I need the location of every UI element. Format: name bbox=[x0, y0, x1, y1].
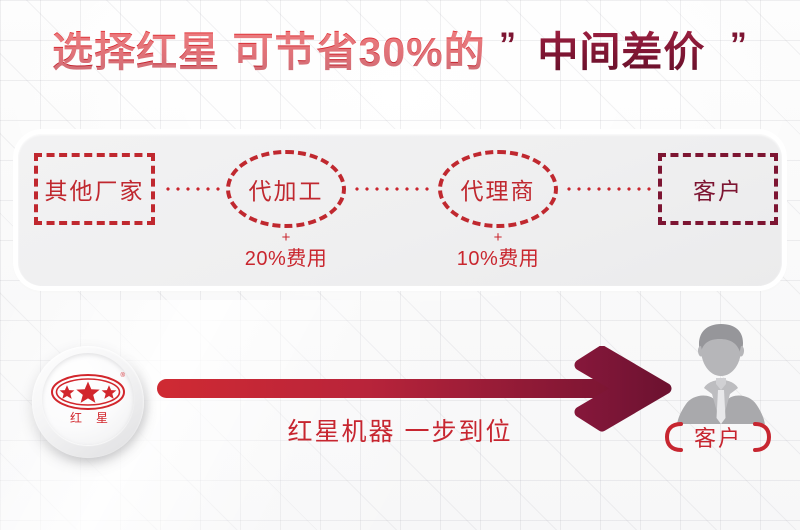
connector-agent-to-customer bbox=[564, 187, 652, 191]
svg-text:星: 星 bbox=[96, 411, 108, 425]
page-title: 选择红星 可节省30%的 ” 中间差价 ” bbox=[0, 28, 800, 77]
connector-other-to-oem bbox=[163, 187, 221, 191]
businessman-avatar-icon bbox=[668, 318, 774, 426]
flow-node-other-factory: 其他厂家 bbox=[34, 153, 155, 225]
fee-annotation-agent: + 10%费用 bbox=[418, 230, 578, 272]
flow-node-label: 其他厂家 bbox=[45, 172, 145, 206]
fee-annotation-oem: + 20%费用 bbox=[206, 230, 366, 272]
flow-node-customer: 客户 bbox=[658, 153, 778, 225]
connector-oem-to-agent bbox=[352, 187, 434, 191]
quote-open-icon: ” bbox=[499, 25, 517, 66]
poster-canvas: 选择红星 可节省30%的 ” 中间差价 ” 其他厂家 代加工 代理商 客户 + … bbox=[0, 0, 800, 530]
customer-label: 客户 bbox=[694, 421, 742, 453]
bracket-right-icon bbox=[753, 421, 772, 453]
headline-primary-text: 选择红星 可节省30%的 bbox=[52, 29, 485, 75]
headline-emphasis-text: 中间差价 bbox=[537, 29, 705, 75]
svg-text:®: ® bbox=[121, 372, 126, 379]
customer-tag: 客户 bbox=[648, 419, 788, 455]
flow-node-label: 代加工 bbox=[249, 172, 324, 206]
hongxing-logo-mark: ® 红 星 bbox=[48, 368, 128, 430]
flow-node-label: 客户 bbox=[693, 172, 743, 206]
bottom-tagline: 红星机器 一步到位 bbox=[190, 412, 610, 448]
fee-plus-sign: + bbox=[418, 230, 578, 246]
fee-amount: 20%费用 bbox=[206, 246, 366, 272]
flow-node-agent-dealer: 代理商 bbox=[438, 150, 558, 228]
fee-amount: 10%费用 bbox=[418, 246, 578, 272]
quote-close-icon: ” bbox=[730, 25, 748, 66]
fee-plus-sign: + bbox=[206, 230, 366, 246]
flow-node-oem-processing: 代加工 bbox=[226, 150, 346, 228]
bracket-left-icon bbox=[664, 421, 683, 453]
flow-node-label: 代理商 bbox=[461, 172, 536, 206]
hongxing-logo: ® 红 星 bbox=[42, 353, 134, 445]
svg-text:红: 红 bbox=[70, 410, 82, 425]
